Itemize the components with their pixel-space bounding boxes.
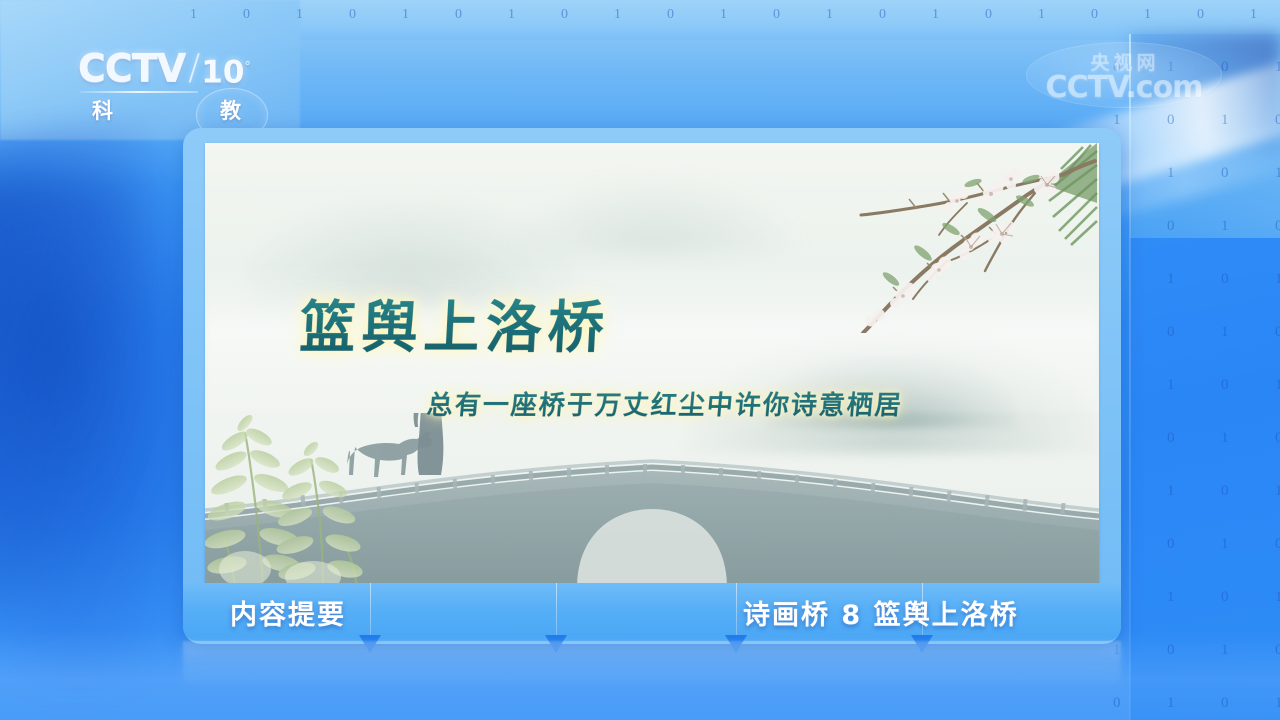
binary-digit: 1 [1167, 484, 1175, 499]
binary-digit: 1 [1275, 166, 1280, 181]
binary-digit: 1 [1167, 590, 1175, 605]
binary-digit: 0 [1167, 219, 1175, 234]
binary-digit: 0 [1275, 325, 1280, 340]
binary-digit: 0 [1275, 431, 1280, 446]
binary-digit: 0 [1167, 643, 1175, 658]
binary-digit: 1 [720, 8, 727, 22]
binary-digit: 0 [1275, 537, 1280, 552]
binary-digit: 0 [985, 8, 992, 22]
bar-segment [556, 583, 736, 641]
binary-digit: 1 [1113, 113, 1121, 128]
binary-digit: 0 [349, 8, 356, 22]
binary-digit: 0 [1221, 378, 1229, 393]
binary-digit: 0 [1221, 696, 1229, 711]
cctv-com-watermark: 央视网 CCTV.com [1026, 42, 1222, 108]
binary-digit: 0 [1221, 60, 1229, 75]
binary-digit: 0 [455, 8, 462, 22]
bar-segment-divider [556, 583, 557, 641]
lower-info-bar: 内容提要 诗画桥 8 篮舆上洛桥 [183, 583, 1121, 641]
binary-digit: 0 [1221, 484, 1229, 499]
binary-digit: 1 [1250, 8, 1257, 22]
binary-digit: 1 [508, 8, 515, 22]
binary-digit: 1 [1221, 325, 1229, 340]
binary-digit: 1 [1221, 219, 1229, 234]
binary-digit: 1 [1275, 60, 1280, 75]
program-title-card: 篮舆上洛桥 总有一座桥于万丈红尘中许你诗意栖居 [183, 128, 1121, 644]
bar-label-episode-title: 诗画桥 8 篮舆上洛桥 [743, 583, 1019, 641]
program-title-text: 篮舆上洛桥 [298, 283, 612, 364]
binary-digit: 0 [1113, 696, 1121, 711]
logo-slash: / [188, 48, 200, 88]
binary-digit: 0 [561, 8, 568, 22]
binary-digit: 0 [1221, 590, 1229, 605]
binary-digit: 0 [1275, 219, 1280, 234]
binary-digit: 1 [1275, 590, 1280, 605]
logo-underline [80, 91, 198, 93]
binary-digit: 0 [879, 8, 886, 22]
binary-digit: 0 [243, 8, 250, 22]
bar-label-content-summary: 内容提要 [230, 583, 346, 641]
binary-digit: 1 [1275, 696, 1280, 711]
binary-digit: 0 [1091, 8, 1098, 22]
binary-digit: 1 [932, 8, 939, 22]
bar-segment-divider [922, 583, 923, 641]
binary-digit: 1 [1275, 484, 1280, 499]
binary-digit: 0 [1167, 537, 1175, 552]
watermark-domain-text: CCTV.com [1030, 70, 1218, 105]
logo-degree-mark: ° [244, 60, 251, 75]
binary-digit: 1 [614, 8, 621, 22]
binary-digit: 1 [1221, 431, 1229, 446]
binary-digit: 1 [190, 8, 197, 22]
binary-digit: 0 [1221, 272, 1229, 287]
painting-mountain-far-center [505, 173, 805, 253]
binary-digit: 1 [296, 8, 303, 22]
binary-digit: 0 [1167, 113, 1175, 128]
bar-segment-divider [736, 583, 737, 641]
binary-digit: 1 [1167, 696, 1175, 711]
binary-digit: 0 [1275, 643, 1280, 658]
logo-cctv-wordmark: CCTV [78, 48, 185, 88]
binary-digit: 1 [1038, 8, 1045, 22]
binary-digit: 0 [773, 8, 780, 22]
binary-digit: 0 [1167, 325, 1175, 340]
binary-digit: 1 [1167, 166, 1175, 181]
binary-digit: 0 [667, 8, 674, 22]
binary-digit: 0 [1275, 113, 1280, 128]
logo-subtitle-chars: 科 教 [92, 95, 242, 125]
card-reflection [183, 644, 1121, 694]
binary-digit: 1 [1221, 643, 1229, 658]
logo-channel-number: 10° [201, 48, 251, 92]
bar-segment [370, 583, 556, 641]
cctv10-channel-logo: CCTV / 10° 科 教 [78, 48, 258, 114]
binary-digit: 1 [402, 8, 409, 22]
painting-left-foliage [205, 393, 435, 588]
binary-digit: 0 [1167, 431, 1175, 446]
binary-digit: 1 [1221, 537, 1229, 552]
binary-digit: 0 [1221, 166, 1229, 181]
binary-digit: 1 [1221, 113, 1229, 128]
bar-segment-divider [370, 583, 371, 641]
logo-sub-char-ke: 科 [92, 95, 114, 125]
binary-digit: 1 [1144, 8, 1151, 22]
logo-sub-char-jiao: 教 [220, 95, 242, 125]
binary-digit: 1 [826, 8, 833, 22]
binary-digit: 1 [1167, 378, 1175, 393]
painting-blossom-branch [839, 143, 1099, 333]
binary-digit: 1 [1275, 272, 1280, 287]
broadcast-frame: 1010101010101010101010101101001011010010… [0, 0, 1280, 720]
binary-digit: 1 [1167, 272, 1175, 287]
painting-artwork: 篮舆上洛桥 总有一座桥于万丈红尘中许你诗意栖居 [205, 143, 1099, 588]
program-subtitle-text: 总有一座桥于万丈红尘中许你诗意栖居 [425, 385, 904, 422]
binary-digit: 1 [1275, 378, 1280, 393]
binary-digit: 0 [1197, 8, 1204, 22]
